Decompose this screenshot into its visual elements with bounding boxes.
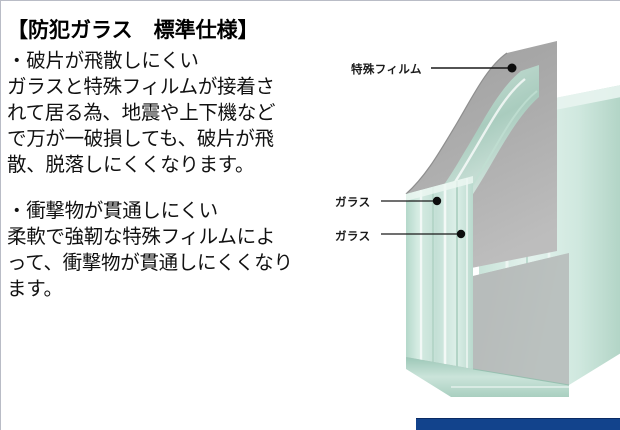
callout-dot-glass2 bbox=[457, 230, 465, 238]
security-glass-spec-panel: 【防犯ガラス 標準仕様】 ・破片が飛散しにくい ガラスと特殊フィルムが接着さ れ… bbox=[0, 0, 620, 430]
glass-cross-section-diagram: 特殊フィルム ガラス ガラス bbox=[321, 1, 620, 430]
page-title: 【防犯ガラス 標準仕様】 bbox=[7, 19, 337, 43]
text-column: 【防犯ガラス 標準仕様】 ・破片が飛散しにくい ガラスと特殊フィルムが接着さ れ… bbox=[7, 19, 337, 302]
callout-dot-glass1 bbox=[433, 197, 441, 205]
bottom-accent-bar bbox=[416, 418, 620, 430]
callout-label-special-film: 特殊フィルム bbox=[351, 61, 422, 77]
feature-paragraph-shatter-resistance: ・破片が飛散しにくい ガラスと特殊フィルムが接着さ れて居る為、地震や上下機など… bbox=[7, 49, 337, 179]
callout-label-glass-inner: ガラス bbox=[335, 228, 370, 244]
callout-label-glass-outer: ガラス bbox=[335, 194, 370, 210]
feature-paragraph-penetration-resistance: ・衝撃物が貫通しにくい 柔軟で強靭な特殊フィルムによ って、衝撃物が貫通しにくく… bbox=[7, 199, 337, 303]
front-glass-pane bbox=[406, 176, 473, 369]
callout-dot-film bbox=[508, 64, 517, 73]
